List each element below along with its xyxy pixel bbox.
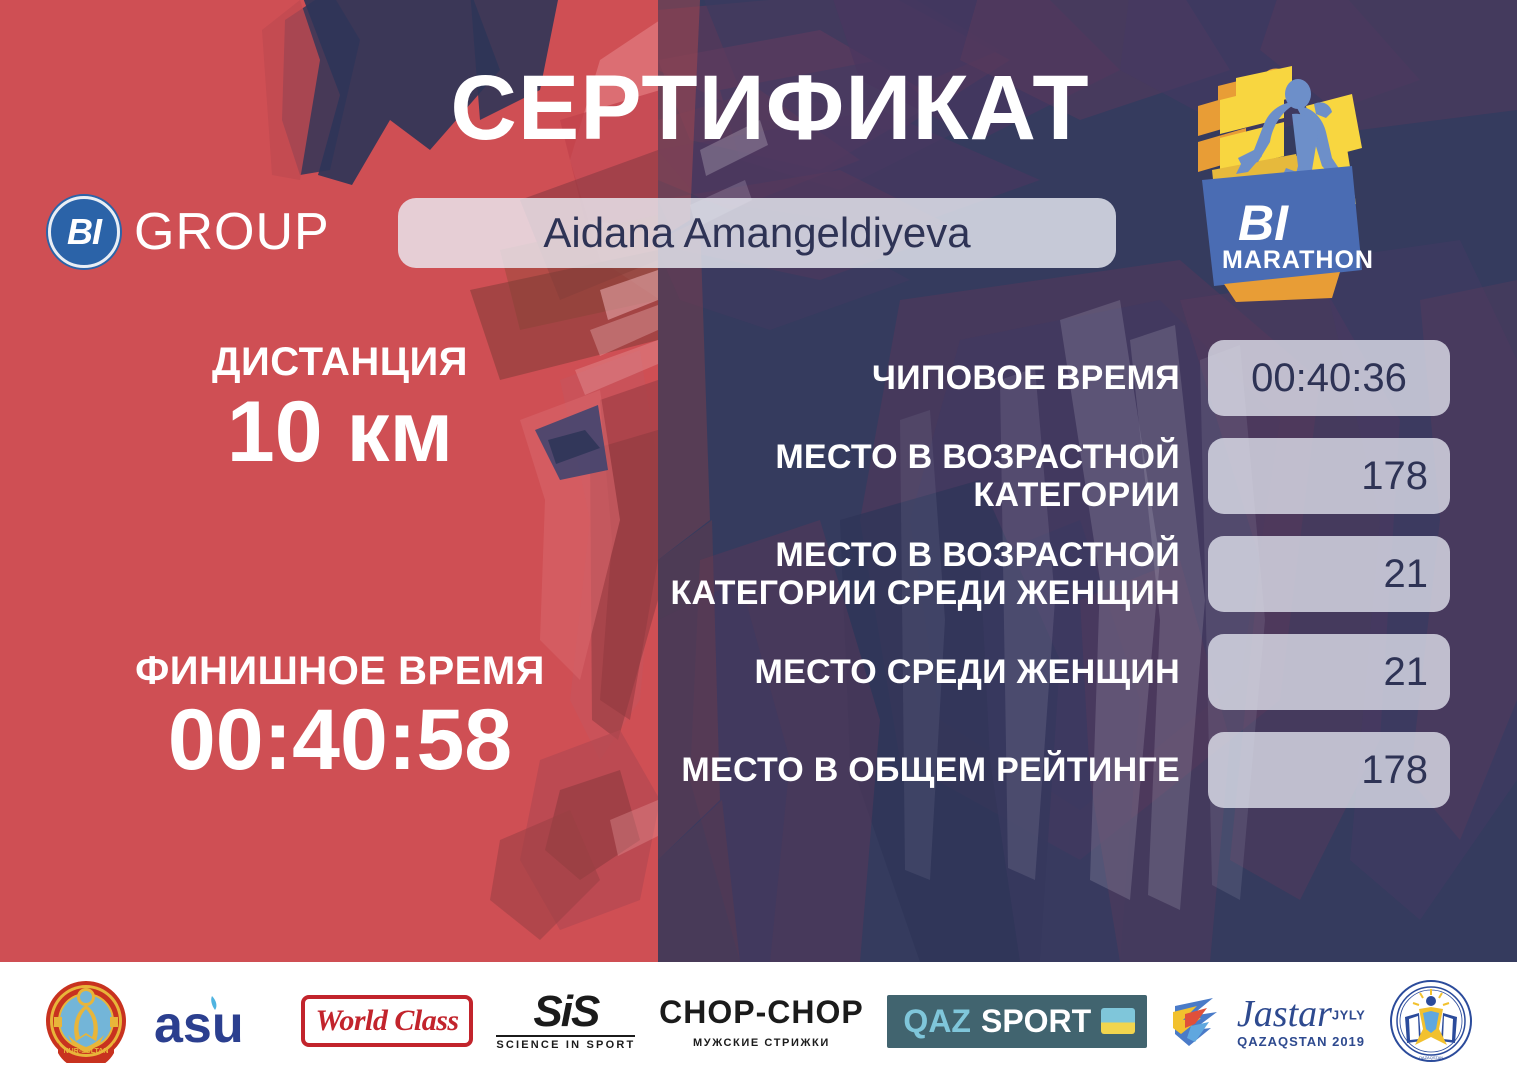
- stat-row: ЧИПОВОЕ ВРЕМЯ00:40:36: [612, 340, 1450, 416]
- chop-chop-tagline: МУЖСКИЕ СТРИЖКИ: [659, 1037, 864, 1049]
- jastar-tagline: QAZAQSTAN 2019: [1237, 1035, 1365, 1048]
- stat-label: МЕСТО В ВОЗРАСТНОЙ КАТЕГОРИИ: [612, 438, 1180, 514]
- svg-text:BI: BI: [1238, 195, 1289, 251]
- finish-time-value: 00:40:58: [60, 697, 620, 785]
- sis-label: SiS: [496, 991, 635, 1033]
- stat-label: МЕСТО СРЕДИ ЖЕНЩИН: [612, 653, 1180, 691]
- bi-group-label: GROUP: [134, 202, 330, 262]
- stat-value-pill: 21: [1208, 536, 1450, 612]
- participant-name: Aidana Amangeldiyeva: [543, 209, 970, 257]
- participant-name-pill: Aidana Amangeldiyeva: [398, 198, 1116, 268]
- svg-text:QAZAQSTAN: QAZAQSTAN: [1419, 1055, 1443, 1060]
- finish-time-label: ФИНИШНОЕ ВРЕМЯ: [60, 649, 620, 694]
- qazsport-flag-icon: [1101, 1008, 1135, 1034]
- sponsor-sis-logo: SiS SCIENCE IN SPORT: [496, 991, 635, 1052]
- nur-sultan-emblem-icon: NUR-SULTAN: [44, 979, 128, 1063]
- svg-text:MARATHON: MARATHON: [1222, 246, 1374, 274]
- stat-value-pill: 00:40:36: [1208, 340, 1450, 416]
- jastar-label: Jastar: [1237, 993, 1332, 1035]
- bi-marathon-logo: BI MARATHON: [1180, 62, 1380, 302]
- results-stats-list: ЧИПОВОЕ ВРЕМЯ00:40:36МЕСТО В ВОЗРАСТНОЙ …: [612, 340, 1450, 808]
- stat-row: МЕСТО В ВОЗРАСТНОЙ КАТЕГОРИИ178: [612, 438, 1450, 514]
- stat-row: МЕСТО В ВОЗРАСТНОЙ КАТЕГОРИИ СРЕДИ ЖЕНЩИ…: [612, 536, 1450, 612]
- jastar-bird-icon: [1171, 990, 1229, 1052]
- certificate-page: СЕРТИФИКАТ BI GROUP Aidana Amangeldiyeva: [0, 0, 1517, 1080]
- distance-label: ДИСТАНЦИЯ: [60, 340, 620, 385]
- stat-label: ЧИПОВОЕ ВРЕМЯ: [612, 359, 1180, 397]
- bi-badge-icon: BI: [48, 196, 120, 268]
- stat-label: МЕСТО В ОБЩЕМ РЕЙТИНГЕ: [612, 751, 1180, 789]
- jastar-jyly-label: JYLY: [1332, 1007, 1365, 1022]
- left-summary-column: ДИСТАНЦИЯ 10 км ФИНИШНОЕ ВРЕМЯ 00:40:58: [60, 340, 620, 785]
- world-class-label: World Class: [301, 995, 472, 1047]
- qazsport-label-b: SPORT: [981, 1003, 1091, 1040]
- chop-chop-label: CHOP-CHOP: [659, 994, 864, 1031]
- svg-text:asu: asu: [154, 996, 244, 1052]
- stat-value-pill: 178: [1208, 732, 1450, 808]
- svg-text:NUR-SULTAN: NUR-SULTAN: [64, 1048, 109, 1055]
- stat-row: МЕСТО В ОБЩЕМ РЕЙТИНГЕ178: [612, 732, 1450, 808]
- stat-row: МЕСТО СРЕДИ ЖЕНЩИН21: [612, 634, 1450, 710]
- stat-value-pill: 21: [1208, 634, 1450, 710]
- asu-logo-icon: asu: [152, 990, 278, 1052]
- sponsor-jastar-logo: JastarJYLY QAZAQSTAN 2019: [1171, 990, 1365, 1052]
- sponsor-bar: NUR-SULTAN asu World Class SiS SCIENCE I…: [0, 962, 1517, 1080]
- sponsor-chop-chop-logo: CHOP-CHOP МУЖСКИЕ СТРИЖКИ: [659, 994, 864, 1049]
- sponsor-qazsport-logo: QAZ SPORT: [887, 995, 1147, 1048]
- sponsor-ministry-emblem: QAZAQSTAN: [1389, 979, 1473, 1063]
- bi-group-logo: BI GROUP: [48, 196, 330, 268]
- finish-time-block: ФИНИШНОЕ ВРЕМЯ 00:40:58: [60, 649, 620, 786]
- sponsor-nur-sultan-emblem: NUR-SULTAN: [44, 979, 128, 1063]
- qazsport-label-a: QAZ: [903, 1003, 971, 1040]
- stat-value-pill: 178: [1208, 438, 1450, 514]
- sponsor-world-class-logo: World Class: [301, 995, 472, 1047]
- bi-marathon-logo-icon: BI MARATHON: [1180, 62, 1380, 302]
- ministry-emblem-icon: QAZAQSTAN: [1389, 979, 1473, 1063]
- stat-label: МЕСТО В ВОЗРАСТНОЙ КАТЕГОРИИ СРЕДИ ЖЕНЩИ…: [612, 536, 1180, 612]
- sponsor-asu-logo: asu: [152, 990, 278, 1052]
- sis-tagline: SCIENCE IN SPORT: [496, 1035, 635, 1051]
- page-title: СЕРТИФИКАТ: [390, 62, 1150, 154]
- distance-value: 10 км: [60, 389, 620, 477]
- distance-block: ДИСТАНЦИЯ 10 км: [60, 340, 620, 477]
